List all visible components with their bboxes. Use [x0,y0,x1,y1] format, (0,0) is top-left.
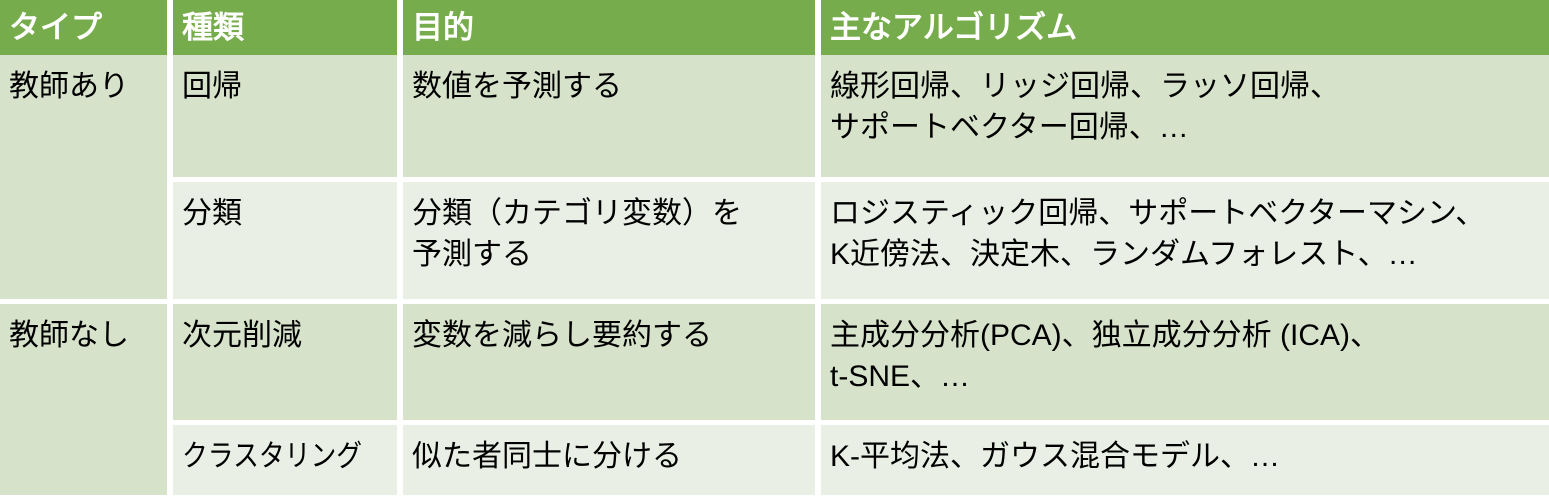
cell-algorithms-classification: ロジスティック回帰、サポートベクターマシン、 K近傍法、決定木、ランダムフォレス… [818,180,1549,302]
cell-algorithms-dimensionality-reduction: 主成分分析(PCA)、独立成分分析 (ICA)、 t-SNE、… [818,302,1549,423]
cell-kind-regression: 回帰 [170,55,400,180]
column-header-goal: 目的 [400,0,818,55]
cell-goal-dimensionality-reduction: 変数を減らし要約する [400,302,818,423]
cell-goal-regression: 数値を予測する [400,55,818,180]
cell-algorithms-clustering: K-平均法、ガウス混合モデル、… [818,423,1549,498]
cell-type-supervised: 教師あり [0,55,170,302]
cell-kind-dimensionality-reduction: 次元削減 [170,302,400,423]
cell-kind-classification: 分類 [170,180,400,302]
cell-goal-clustering: 似た者同士に分ける [400,423,818,498]
header-row: タイプ 種類 目的 主なアルゴリズム [0,0,1549,55]
ml-algorithm-table: タイプ 種類 目的 主なアルゴリズム 教師あり 回帰 数値を予測する 線形回帰、… [0,0,1549,500]
cell-kind-clustering-label: クラスタリング [182,436,362,477]
table-row: 教師あり 回帰 数値を予測する 線形回帰、リッジ回帰、ラッソ回帰、 サポートベク… [0,55,1549,180]
cell-type-unsupervised: 教師なし [0,302,170,498]
table-body: 教師あり 回帰 数値を予測する 線形回帰、リッジ回帰、ラッソ回帰、 サポートベク… [0,55,1549,498]
table-row: 教師なし 次元削減 変数を減らし要約する 主成分分析(PCA)、独立成分分析 (… [0,302,1549,423]
table-row: クラスタリング 似た者同士に分ける K-平均法、ガウス混合モデル、… [0,423,1549,498]
cell-kind-clustering: クラスタリング [170,423,400,498]
column-header-algorithms: 主なアルゴリズム [818,0,1549,55]
table-header: タイプ 種類 目的 主なアルゴリズム [0,0,1549,55]
table-row: 分類 分類（カテゴリ変数）を 予測する ロジスティック回帰、サポートベクターマシ… [0,180,1549,302]
column-header-type: タイプ [0,0,170,55]
column-header-kind: 種類 [170,0,400,55]
cell-algorithms-regression: 線形回帰、リッジ回帰、ラッソ回帰、 サポートベクター回帰、… [818,55,1549,180]
cell-goal-classification: 分類（カテゴリ変数）を 予測する [400,180,818,302]
